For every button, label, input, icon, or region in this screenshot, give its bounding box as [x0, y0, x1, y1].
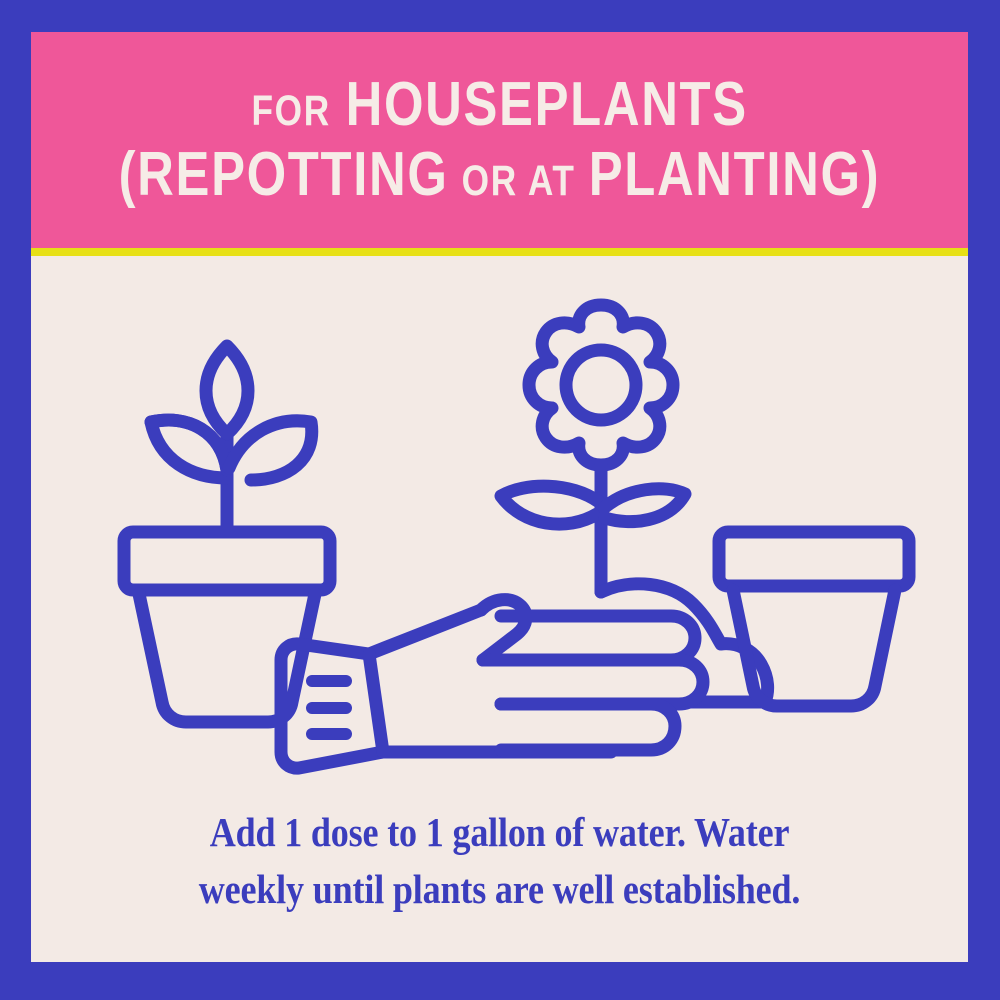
- headline-word-or-at: or at: [462, 160, 576, 203]
- headline-word-planting: Planting): [589, 144, 881, 206]
- illustration-group: [31, 282, 968, 782]
- headline-word-repotting: (Repotting: [119, 144, 449, 206]
- card-header: For Houseplants (Repotting or at Plantin…: [31, 32, 968, 248]
- headline-word-for: For: [251, 90, 330, 133]
- yellow-divider: [31, 248, 968, 256]
- potted-seedling-icon: [124, 346, 330, 722]
- empty-pot-icon: [719, 532, 909, 706]
- card-panel: For Houseplants (Repotting or at Plantin…: [31, 32, 968, 962]
- headline-line-2: (Repotting or at Planting): [119, 144, 881, 206]
- caption-text: Add 1 dose to 1 gallon of water. Water w…: [87, 804, 912, 917]
- caption-line-1: Add 1 dose to 1 gallon of water. Water: [87, 804, 912, 861]
- headline-word-houseplants: Houseplants: [345, 74, 747, 136]
- headline-line-1: For Houseplants: [251, 74, 747, 136]
- instruction-card: For Houseplants (Repotting or at Plantin…: [0, 0, 1000, 1000]
- gloved-hand-holding-flower-icon: [281, 305, 768, 768]
- caption-line-2: weekly until plants are well established…: [87, 861, 912, 918]
